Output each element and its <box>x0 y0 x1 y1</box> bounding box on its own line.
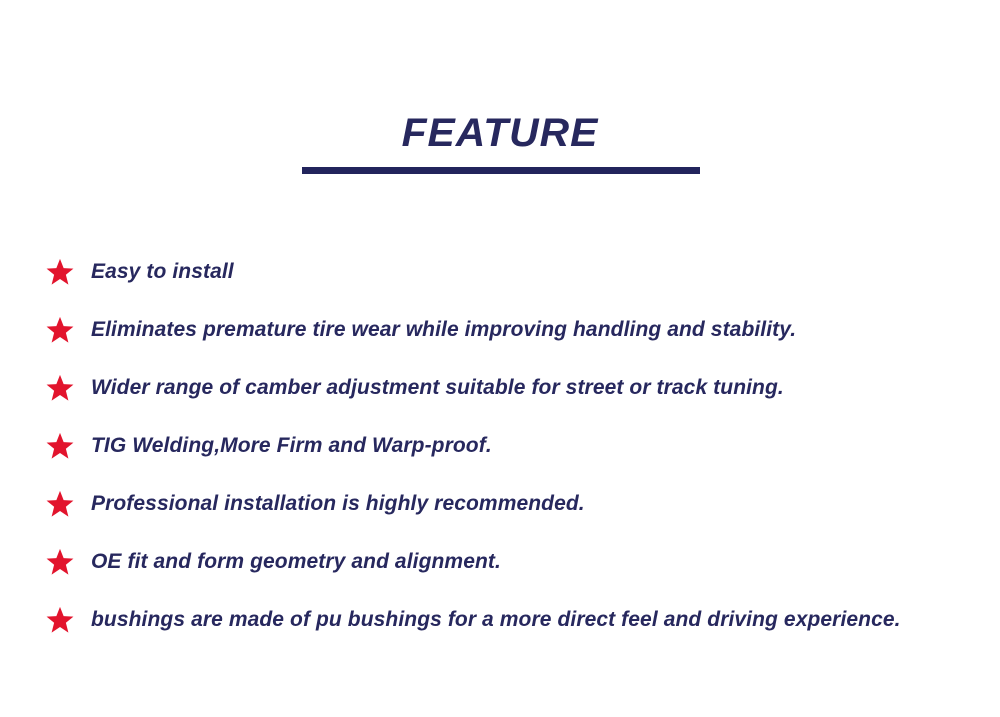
feature-page: FEATURE Easy to install Eliminates prema… <box>0 0 1000 717</box>
star-icon <box>46 432 74 460</box>
list-item: Professional installation is highly reco… <box>46 475 996 533</box>
list-item: TIG Welding,More Firm and Warp-proof. <box>46 417 996 475</box>
feature-item-label: Easy to install <box>91 259 234 285</box>
star-icon <box>46 548 74 576</box>
star-icon <box>46 258 74 286</box>
star-icon <box>46 490 74 518</box>
star-icon <box>46 316 74 344</box>
list-item: bushings are made of pu bushings for a m… <box>46 591 996 649</box>
star-icon <box>46 606 74 634</box>
list-item: Eliminates premature tire wear while imp… <box>46 301 996 359</box>
feature-item-label: bushings are made of pu bushings for a m… <box>91 607 901 633</box>
feature-item-label: TIG Welding,More Firm and Warp-proof. <box>91 433 492 459</box>
feature-list: Easy to install Eliminates premature tir… <box>46 243 996 649</box>
page-title: FEATURE <box>0 110 1000 156</box>
feature-item-label: Wider range of camber adjustment suitabl… <box>91 375 784 401</box>
feature-item-label: Professional installation is highly reco… <box>91 491 585 517</box>
title-underline-rule <box>302 167 700 174</box>
page-title-block: FEATURE <box>0 110 1000 156</box>
list-item: Easy to install <box>46 243 996 301</box>
list-item: OE fit and form geometry and alignment. <box>46 533 996 591</box>
list-item: Wider range of camber adjustment suitabl… <box>46 359 996 417</box>
feature-item-label: Eliminates premature tire wear while imp… <box>91 317 796 343</box>
star-icon <box>46 374 74 402</box>
feature-item-label: OE fit and form geometry and alignment. <box>91 549 501 575</box>
